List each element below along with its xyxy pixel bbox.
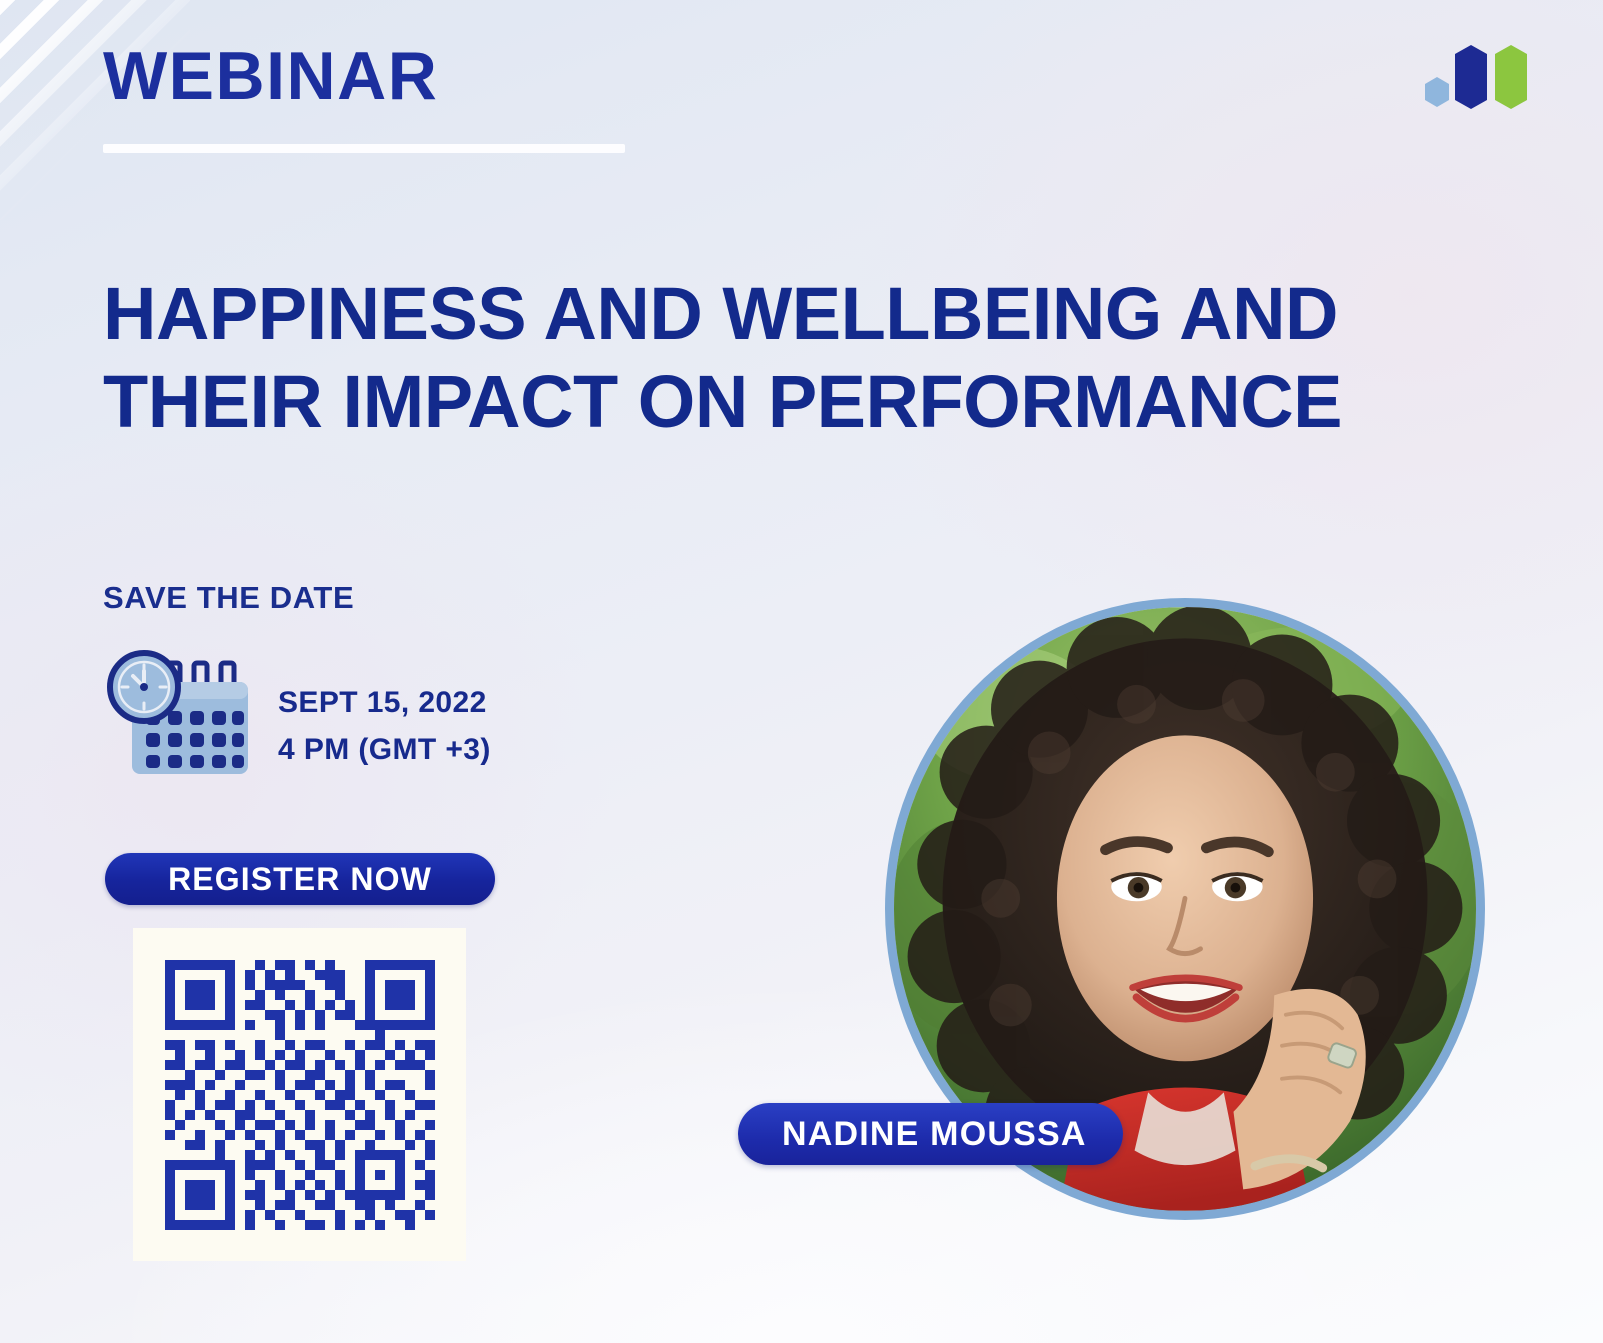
webinar-eyebrow-label: WEBINAR — [103, 42, 438, 110]
event-date: SEPT 15, 2022 — [278, 680, 491, 727]
calendar-clock-icon — [104, 645, 256, 780]
qr-code[interactable] — [133, 928, 466, 1261]
register-now-button[interactable]: REGISTER NOW — [105, 853, 495, 905]
event-date-block: SEPT 15, 2022 4 PM (GMT +3) — [104, 645, 491, 780]
event-time: 4 PM (GMT +3) — [278, 727, 491, 774]
event-datetime: SEPT 15, 2022 4 PM (GMT +3) — [278, 652, 491, 773]
webinar-poster: WEBINAR HAPPINESS AND WELLBEING AND THEI… — [0, 0, 1603, 1343]
logo-hexagon-green — [1495, 45, 1527, 109]
header-divider — [103, 144, 625, 153]
logo-hexagon-navy — [1455, 45, 1487, 109]
title-line-1: HAPPINESS AND WELLBEING AND — [103, 270, 1523, 358]
page-title: HAPPINESS AND WELLBEING AND THEIR IMPACT… — [103, 270, 1523, 446]
company-logo — [1411, 38, 1541, 120]
speaker-name-badge: NADINE MOUSSA — [738, 1103, 1123, 1165]
save-the-date-label: SAVE THE DATE — [103, 580, 354, 616]
logo-hexagon-light-blue — [1425, 77, 1449, 107]
title-line-2: THEIR IMPACT ON PERFORMANCE — [103, 358, 1523, 446]
